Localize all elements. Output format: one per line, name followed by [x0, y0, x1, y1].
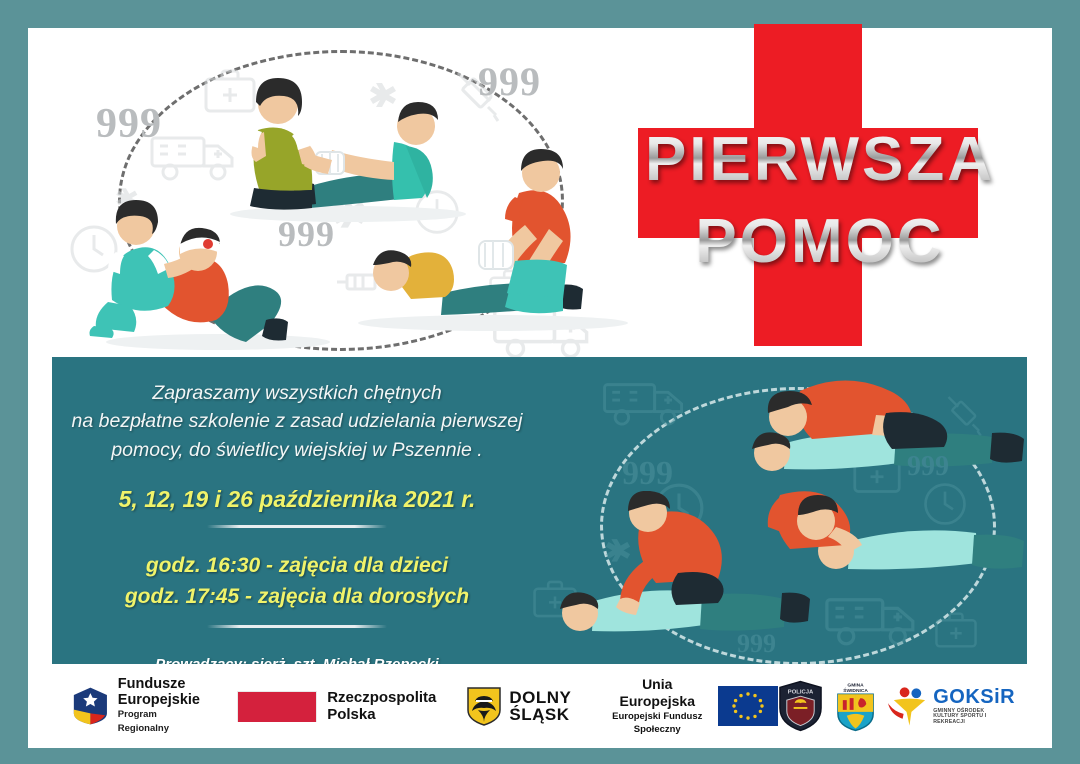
invitation-line-1: Zapraszamy wszystkich chętnych	[62, 379, 532, 407]
logo-dolny-slask: DOLNY ŚLĄSK	[466, 686, 571, 726]
goksir-mark-icon	[886, 686, 931, 726]
ambulance-icon	[600, 375, 690, 432]
invitation-text: Zapraszamy wszystkich chętnych na bezpła…	[62, 379, 532, 464]
time-adults: godz. 17:45 - zajęcia dla dorosłych	[62, 581, 532, 613]
dolny-slask-text: DOLNY ŚLĄSK	[509, 689, 571, 723]
emergency-number-999: 999	[278, 213, 335, 255]
ds-line1: DOLNY	[509, 689, 571, 706]
fe-line3: Program Regionalny	[118, 708, 203, 737]
poster-title-line1: PIERWSZA	[588, 124, 1052, 195]
cpr-illustration: 999 999 999	[522, 361, 1027, 681]
first-aid-illustration-top: 999 999 999	[48, 28, 648, 358]
invitation-line-2: na bezpłatne szkolenie z zasad udzielani…	[62, 407, 532, 435]
sponsor-logo-bar: Fundusze Europejskie Program Regionalny …	[28, 664, 1052, 748]
goksir-sub2: KULTURY SPORTU I REKREACJI	[933, 714, 1018, 724]
unia-europejska-text: Unia Europejska Europejski Fundusz Społe…	[605, 676, 709, 736]
ue-line2: Europejski Fundusz Społeczny	[605, 710, 709, 737]
logo-rzeczpospolita-polska: Rzeczpospolita Polska	[237, 689, 436, 724]
scene-rescue-breathing	[700, 369, 1027, 494]
fundusze-europejskie-mark	[72, 684, 109, 728]
goksir-text: GOKSiR GMINNY OŚRODEK KULTURY SPORTU I R…	[933, 687, 1018, 725]
title-block: PIERWSZA POMOC	[588, 28, 1052, 358]
poster-title-line2: POMOC	[588, 206, 1052, 277]
time-children: godz. 16:30 - zajęcia dla dzieci	[62, 550, 532, 582]
scene-recovery-position	[740, 487, 1027, 617]
policja-label: POLICJA	[788, 689, 814, 695]
fe-line2: Europejskie	[118, 692, 203, 708]
first-aid-kit-icon	[934, 611, 978, 654]
divider-bottom	[207, 625, 387, 628]
emergency-number-999: 999	[622, 455, 673, 493]
info-panel: Zapraszamy wszystkich chętnych na bezpła…	[52, 357, 1027, 682]
logo-goksir: GOKSiR GMINNY OŚRODEK KULTURY SPORTU I R…	[886, 686, 1018, 726]
rzeczpospolita-text: Rzeczpospolita Polska	[327, 689, 436, 724]
fe-line1: Fundusze	[118, 676, 203, 692]
invitation-line-3: pomocy, do świetlicy wiejskiej w Pszenni…	[62, 436, 532, 464]
ds-line2: ŚLĄSK	[509, 706, 571, 723]
hero-section: 999 999 999 PIERWSZA POMOC	[28, 28, 1052, 358]
poster-page: 999 999 999 PIERWSZA POMOC Zapraszamy ws…	[28, 28, 1052, 748]
gmina-line1: GMINA	[848, 682, 865, 688]
logo-gmina-swidnica-icon: GMINA ŚWIDNICA	[835, 680, 876, 732]
emergency-number-999: 999	[737, 629, 776, 659]
divider-top	[207, 525, 387, 528]
emergency-number-999: 999	[478, 58, 541, 105]
local-partner-logos: POLICJA GMINA ŚWIDNICA	[778, 680, 1018, 732]
emergency-number-999: 999	[907, 451, 949, 483]
goksir-name: GOKSiR	[933, 687, 1018, 707]
ue-line1: Unia Europejska	[605, 676, 709, 710]
emergency-number-999: 999	[96, 100, 162, 148]
fundusze-europejskie-text: Fundusze Europejskie Program Regionalny	[118, 676, 203, 737]
rp-line1: Rzeczpospolita	[327, 689, 436, 706]
gmina-line2: ŚWIDNICA	[843, 687, 868, 694]
logo-unia-europejska: Unia Europejska Europejski Fundusz Społe…	[605, 676, 778, 736]
rp-line2: Polska	[327, 706, 436, 723]
scene-head-bandage	[88, 178, 348, 353]
poster-root: 999 999 999 PIERWSZA POMOC Zapraszamy ws…	[0, 0, 1080, 764]
info-text-block: Zapraszamy wszystkich chętnych na bezpła…	[62, 379, 532, 673]
polish-flag-icon	[237, 691, 317, 722]
eu-flag-icon	[718, 686, 778, 726]
logo-policja-badge-icon: POLICJA	[778, 680, 823, 732]
dolny-slask-crest-icon	[466, 686, 502, 726]
logo-fundusze-europejskie: Fundusze Europejskie Program Regionalny	[72, 676, 203, 737]
event-times: godz. 16:30 - zajęcia dla dzieci godz. 1…	[62, 550, 532, 613]
event-dates: 5, 12, 19 i 26 października 2021 r.	[62, 486, 532, 513]
